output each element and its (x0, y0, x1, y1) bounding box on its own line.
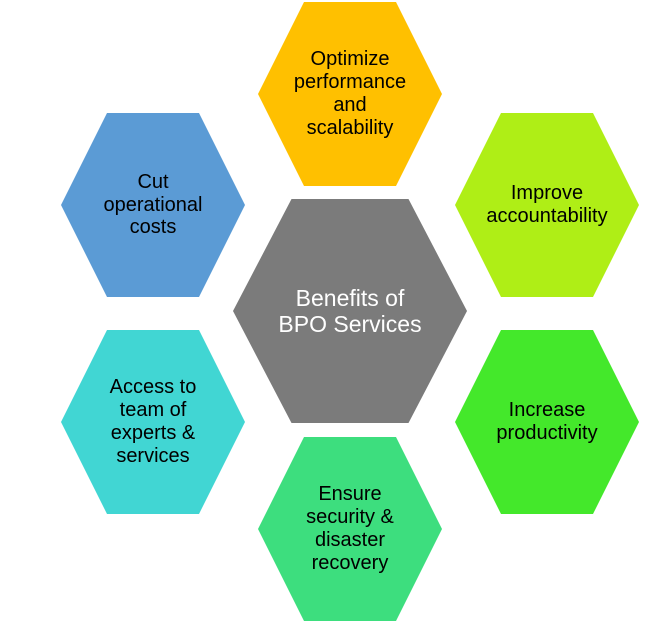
hexagon-increase-productivity[interactable]: Increase productivity (455, 330, 639, 514)
hexagon-optimize-performance-and-scalability[interactable]: Optimize performance and scalability (258, 2, 442, 186)
hexagon-label-benefits-of-bpo-services: Benefits of BPO Services (272, 285, 427, 337)
hexagon-label-increase-productivity: Increase productivity (490, 399, 603, 445)
hexagon-ensure-security-disaster-recovery[interactable]: Ensure security & disaster recovery (258, 437, 442, 621)
hexagon-label-access-to-team-of-experts-services: Access to team of experts & services (104, 376, 203, 467)
hexagon-label-ensure-security-disaster-recovery: Ensure security & disaster recovery (300, 483, 400, 574)
benefits-hexagon-diagram: Cut operational costs Access to team of … (0, 0, 667, 622)
hexagon-access-to-team-of-experts-services[interactable]: Access to team of experts & services (61, 330, 245, 514)
hexagon-cut-operational-costs[interactable]: Cut operational costs (61, 113, 245, 297)
hexagon-label-optimize-performance-and-scalability: Optimize performance and scalability (288, 48, 412, 139)
hexagon-improve-accountability[interactable]: Improve accountability (455, 113, 639, 297)
hexagon-center-benefits-of-bpo-services[interactable]: Benefits of BPO Services (233, 199, 467, 423)
hexagon-label-cut-operational-costs: Cut operational costs (98, 171, 209, 239)
hexagon-label-improve-accountability: Improve accountability (480, 182, 613, 228)
